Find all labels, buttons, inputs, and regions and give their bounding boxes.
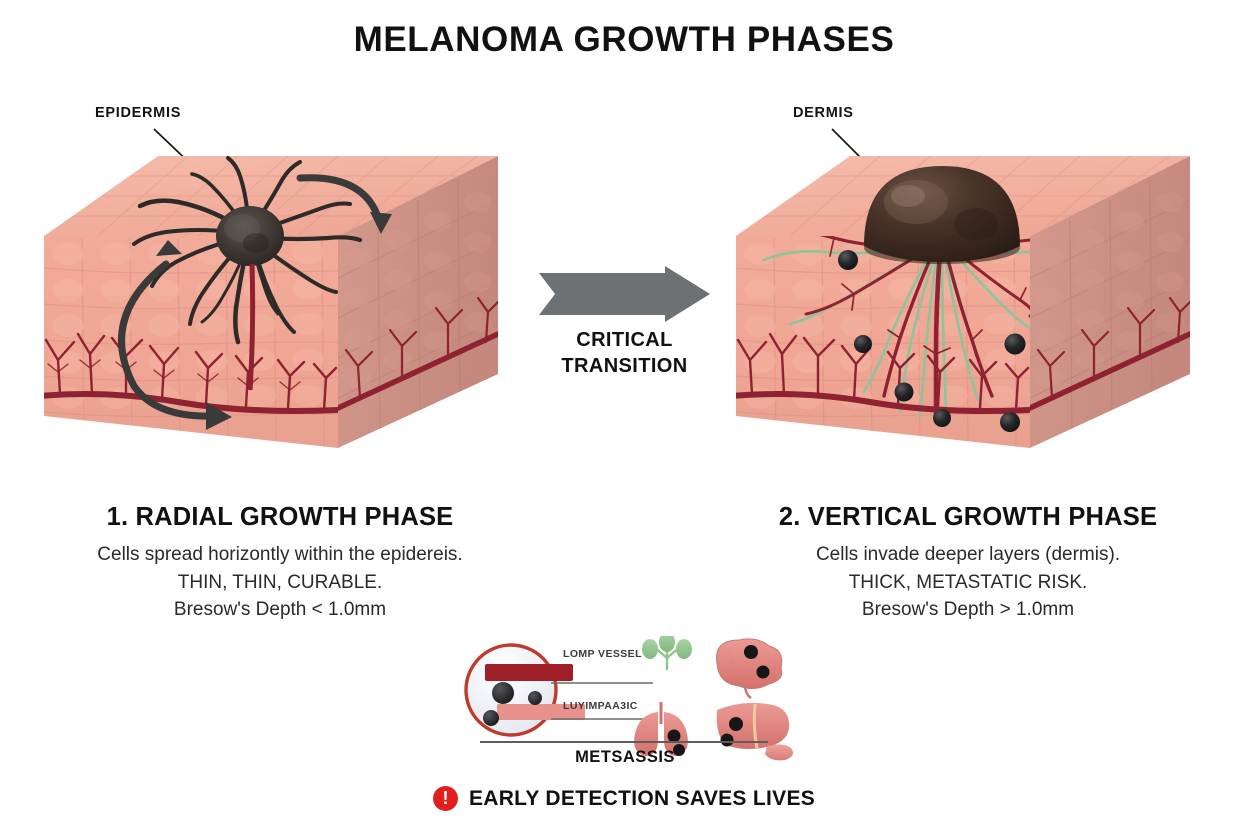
caption-line-2: THIN, THIN, CURABLE. [40, 569, 520, 597]
metastasis-key-lymphatic: LUYIMPAA3IC [563, 700, 638, 712]
callout-label-dermis: DERMIS [793, 105, 854, 121]
transition-line-1: CRITICAL [527, 327, 722, 353]
skin-block-radial-growth [38, 128, 518, 488]
metastasis-key-blood-vessel: LOMP VESSEL [563, 648, 642, 660]
alert-exclamation-icon: ! [433, 786, 458, 811]
caption-line-3: Bresow's Depth < 1.0mm [40, 596, 520, 624]
metastasis-title: METSASSIS [455, 748, 795, 767]
caption-heading: 1. RADIAL GROWTH PHASE [40, 503, 520, 532]
caption-vertical-growth: 2. VERTICAL GROWTH PHASE Cells invade de… [728, 503, 1208, 624]
footer-banner: ! EARLY DETECTION SAVES LIVES [0, 786, 1248, 811]
skin-block-vertical-growth [730, 128, 1210, 488]
brain-icon [716, 639, 781, 698]
callout-label-epidermis: EPIDERMIS [95, 105, 181, 121]
caption-line-3: Bresow's Depth > 1.0mm [728, 596, 1208, 624]
transition-label: CRITICAL TRANSITION [527, 327, 722, 379]
transition-line-2: TRANSITION [527, 353, 722, 379]
caption-line-1: Cells invade deeper layers (dermis). [728, 541, 1208, 569]
caption-radial-growth: 1. RADIAL GROWTH PHASE Cells spread hori… [40, 503, 520, 624]
caption-heading: 2. VERTICAL GROWTH PHASE [728, 503, 1208, 532]
transition-arrow-icon [537, 265, 712, 328]
footer-text: EARLY DETECTION SAVES LIVES [469, 787, 815, 811]
caption-line-2: THICK, METASTATIC RISK. [728, 569, 1208, 597]
metastasis-divider [480, 741, 768, 743]
page-title: MELANOMA GROWTH PHASES [0, 20, 1248, 60]
diagram-canvas: MELANOMA GROWTH PHASES EPIDERMIS DERMIS [0, 0, 1248, 832]
lymph-nodes-icon [642, 636, 692, 670]
caption-line-1: Cells spread horizontly within the epide… [40, 541, 520, 569]
critical-transition-group: CRITICAL TRANSITION [527, 265, 722, 390]
